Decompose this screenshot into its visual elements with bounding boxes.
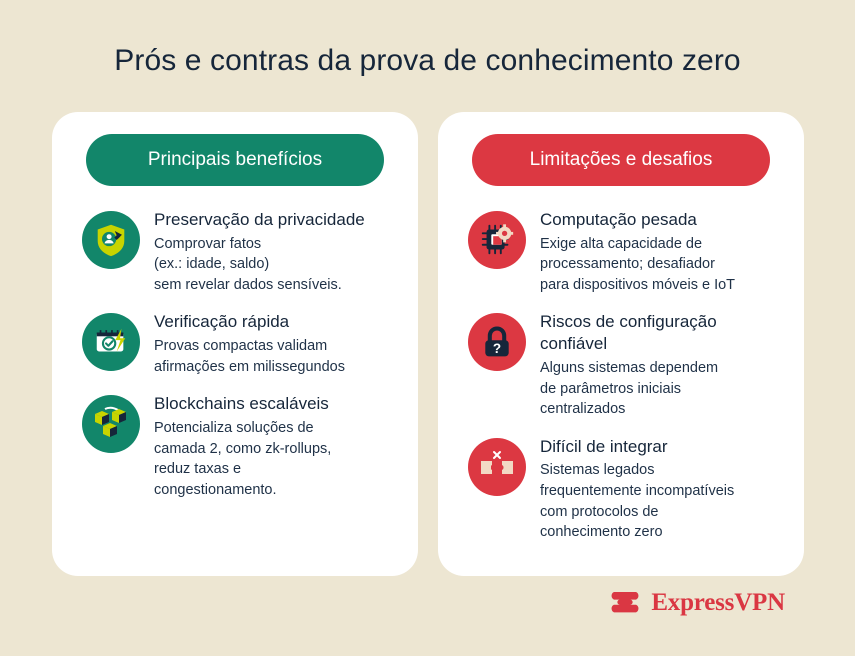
list-item-body: Preservação da privacidade Comprovar fat… xyxy=(154,207,398,295)
expressvpn-logo-mark xyxy=(608,588,642,618)
list-item-body: Blockchains escaláveis Potencializa solu… xyxy=(154,391,398,500)
list-item: Computação pesada Exige alta capacidade … xyxy=(458,200,784,302)
benefits-card: Principais benefícios Preservação da pri… xyxy=(52,112,418,576)
list-item: ? Riscos de configuração confiável Algun… xyxy=(458,302,784,426)
list-item-title: Difícil de integrar xyxy=(540,436,784,458)
list-item-body: Verificação rápida Provas compactas vali… xyxy=(154,309,398,377)
list-item: Difícil de integrar Sistemas legados fre… xyxy=(458,427,784,550)
list-item-desc: Exige alta capacidade de processamento; … xyxy=(540,234,784,296)
benefits-header-pill: Principais benefícios xyxy=(86,134,384,186)
cpu-gear-icon xyxy=(468,211,526,269)
list-item-desc: Sistemas legados frequentemente incompat… xyxy=(540,460,784,542)
cards-container: Principais benefícios Preservação da pri… xyxy=(52,112,804,576)
list-item-title: Blockchains escaláveis xyxy=(154,393,398,415)
verified-card-lightning-icon xyxy=(82,313,140,371)
list-item-title: Computação pesada xyxy=(540,209,784,231)
expressvpn-logo-text: ExpressVPN xyxy=(651,589,785,617)
list-item: Blockchains escaláveis Potencializa solu… xyxy=(72,384,398,507)
list-item-desc: Provas compactas validam afirmações em m… xyxy=(154,336,398,377)
expressvpn-logo: ExpressVPN xyxy=(608,588,785,618)
list-item-body: Riscos de configuração confiável Alguns … xyxy=(540,309,784,419)
list-item-title: Riscos de configuração confiável xyxy=(540,311,784,355)
mismatched-puzzle-icon xyxy=(468,438,526,496)
infographic-page: Prós e contras da prova de conhecimento … xyxy=(0,0,855,656)
padlock-question-icon: ? xyxy=(468,313,526,371)
list-item-body: Computação pesada Exige alta capacidade … xyxy=(540,207,784,295)
limitations-header-pill: Limitações e desafios xyxy=(472,134,770,186)
list-item-desc: Potencializa soluções de camada 2, como … xyxy=(154,418,398,500)
list-item: Preservação da privacidade Comprovar fat… xyxy=(72,200,398,302)
list-item-desc: Comprovar fatos (ex.: idade, saldo) sem … xyxy=(154,234,398,296)
list-item-desc: Alguns sistemas dependem de parâmetros i… xyxy=(540,358,784,420)
limitations-card: Limitações e desafios xyxy=(438,112,804,576)
list-item-body: Difícil de integrar Sistemas legados fre… xyxy=(540,434,784,543)
svg-text:?: ? xyxy=(493,341,501,356)
list-item-title: Preservação da privacidade xyxy=(154,209,398,231)
page-title: Prós e contras da prova de conhecimento … xyxy=(0,44,855,78)
blockchain-cubes-icon xyxy=(82,395,140,453)
shield-privacy-icon xyxy=(82,211,140,269)
list-item: Verificação rápida Provas compactas vali… xyxy=(72,302,398,384)
list-item-title: Verificação rápida xyxy=(154,311,398,333)
